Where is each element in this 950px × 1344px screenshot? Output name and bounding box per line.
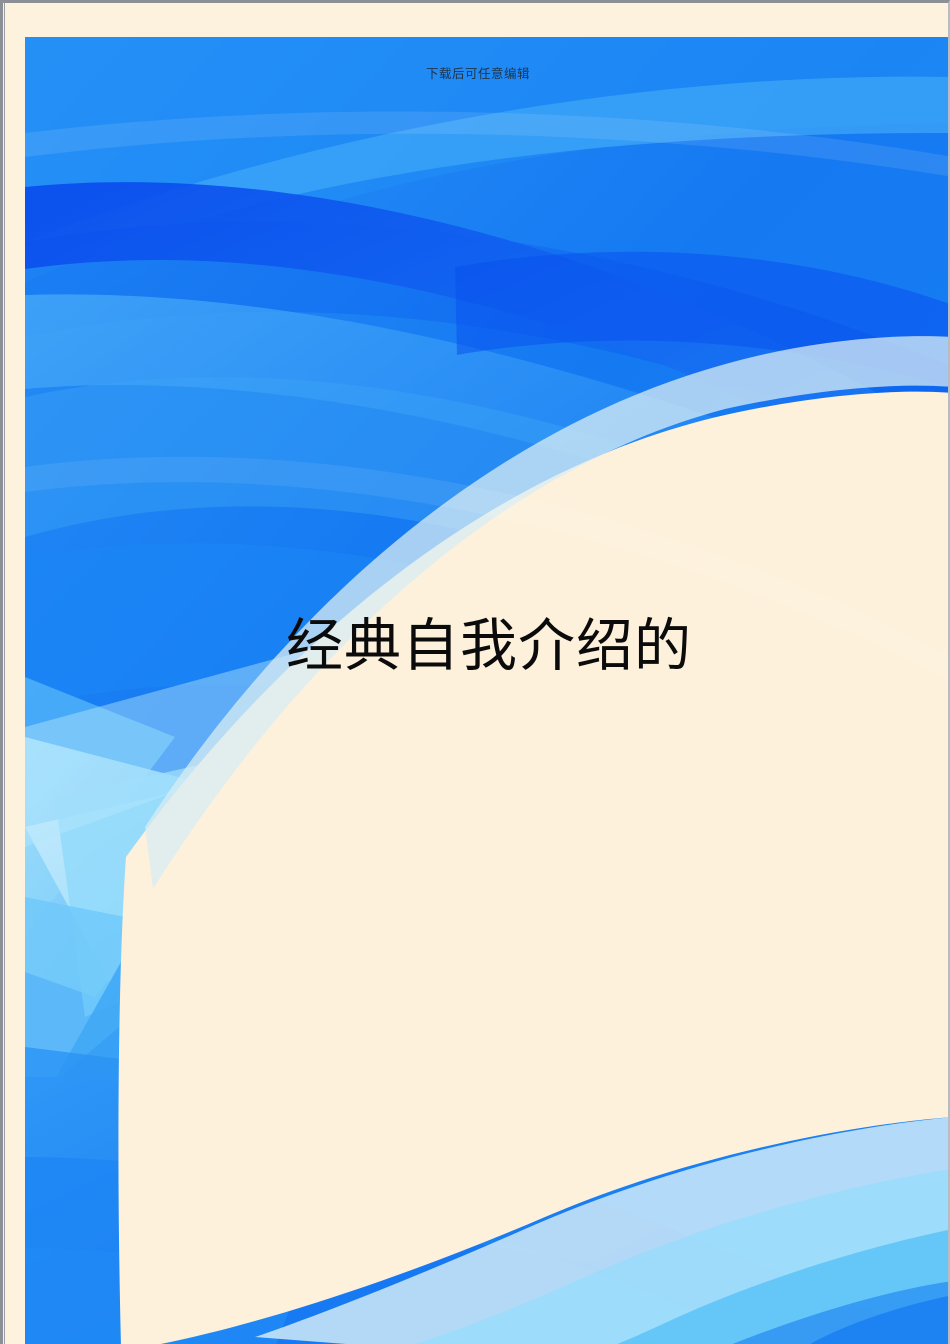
page-title: 经典自我介绍的 [286, 615, 692, 679]
cover-page: 下载后可任意编辑 经典自我介绍的 [0, 0, 950, 1344]
abstract-blue-waves-graphic [25, 37, 950, 1344]
page-gutter-rule [4, 3, 5, 1344]
cover-artwork [25, 37, 950, 1344]
